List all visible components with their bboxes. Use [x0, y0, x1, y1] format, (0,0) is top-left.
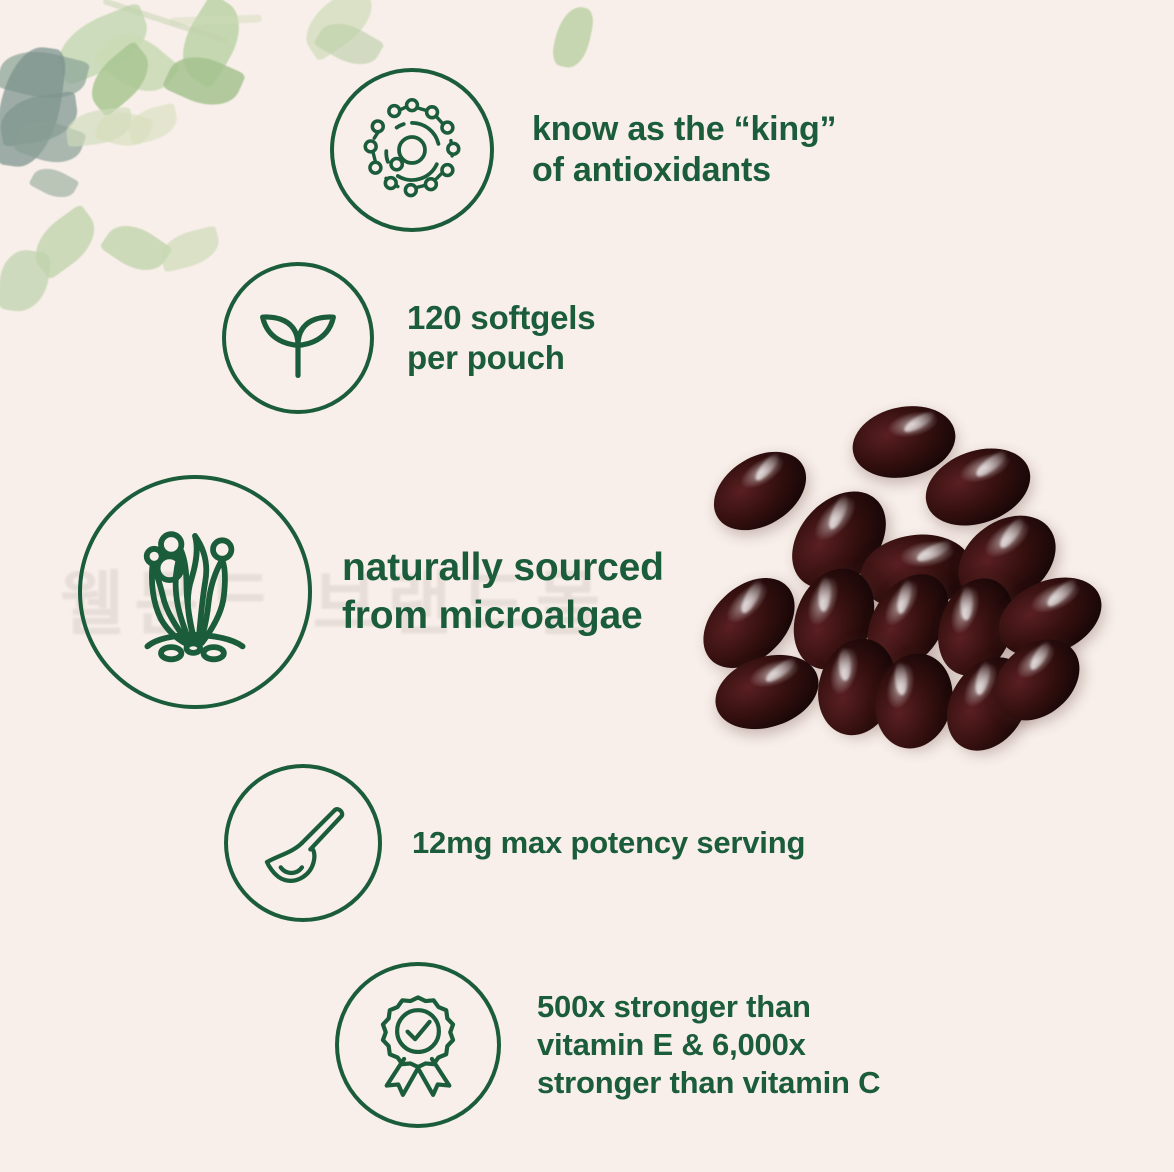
leaf-shape	[102, 0, 227, 44]
product-infographic: 웰뮨ᄃ 브랜드몰	[0, 0, 1174, 1172]
leaf-shape	[0, 247, 52, 315]
leaf-shape	[313, 13, 385, 75]
feature-row-softgel-count: 120 softgels per pouch	[222, 262, 595, 414]
seaweed-algae-icon	[78, 475, 312, 709]
feature-row-potency-comparison: 500x stronger than vitamin E & 6,000x st…	[335, 962, 880, 1128]
leaf-shape	[93, 20, 182, 106]
leaf-shape	[125, 102, 181, 145]
leaf-shape	[170, 14, 262, 25]
spoon-icon	[224, 764, 382, 922]
leaf-shape	[294, 0, 383, 62]
leaf-shape	[13, 112, 87, 171]
feature-row-microalgae: naturally sourced from microalgae	[78, 475, 664, 709]
leaf-shape	[64, 107, 133, 148]
leaf-shape	[49, 2, 157, 86]
feature-row-antioxidants: know as the “king” of antioxidants	[330, 68, 836, 232]
feature-row-potency: 12mg max potency serving	[224, 764, 805, 922]
leaf-shape	[24, 204, 106, 281]
softgel-capsules-photo	[690, 395, 1110, 795]
leaf-shape	[157, 225, 223, 273]
leaf-shape	[99, 214, 173, 282]
award-ribbon-icon	[335, 962, 501, 1128]
leaf-shape	[550, 3, 596, 71]
feature-label: 120 softgels per pouch	[407, 298, 595, 379]
leaf-shape	[0, 42, 90, 107]
leaf-shape	[28, 161, 79, 205]
leaf-shape	[80, 40, 161, 117]
sprout-leaf-icon	[222, 262, 374, 414]
leaf-shape	[162, 45, 246, 116]
feature-label: 12mg max potency serving	[412, 824, 805, 862]
leaf-shape	[168, 0, 254, 89]
leaf-shape	[94, 105, 153, 152]
feature-label: know as the “king” of antioxidants	[532, 109, 836, 192]
leaf-shape	[0, 42, 68, 171]
leaf-shape	[0, 91, 81, 147]
feature-label: naturally sourced from microalgae	[342, 544, 664, 639]
feature-label: 500x stronger than vitamin E & 6,000x st…	[537, 988, 880, 1101]
antioxidant-molecule-icon	[330, 68, 494, 232]
